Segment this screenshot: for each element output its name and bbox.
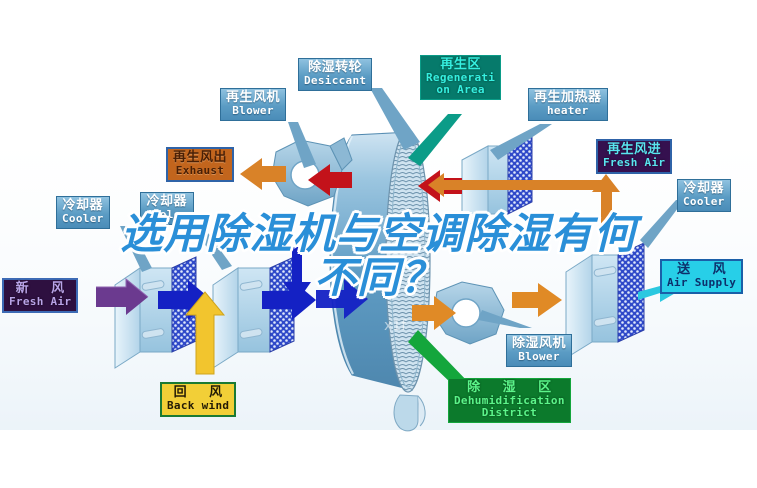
label-dehumidification-district[interactable]: 除湿区 Dehumidification District	[448, 378, 571, 423]
label-cooler-left-2-en: Cooler	[146, 209, 188, 221]
label-regen-blower-en: Blower	[226, 105, 280, 117]
label-cooler-left-cn: 冷却器	[62, 199, 104, 213]
label-regen-blower[interactable]: 再生风机 Blower	[220, 88, 286, 121]
label-regen-fresh-air-cn: 再生风进	[603, 143, 665, 157]
label-regen-blower-cn: 再生风机	[226, 91, 280, 105]
label-cooler-left[interactable]: 冷却器 Cooler	[56, 196, 110, 229]
label-dehumidification-district-cn: 除湿区	[454, 381, 565, 395]
label-dehumidification-district-en-2: District	[454, 407, 565, 419]
label-desiccant-cn: 除湿转轮	[304, 61, 366, 75]
label-fresh-air[interactable]: 新风 Fresh Air	[2, 278, 78, 313]
label-dehum-blower-cn: 除湿风机	[512, 337, 566, 351]
label-exhaust-en: Exhaust	[173, 165, 227, 177]
label-back-wind-en: Back wind	[167, 400, 229, 412]
label-air-supply[interactable]: 送风 Air Supply	[660, 259, 743, 294]
label-exhaust[interactable]: 再生风出 Exhaust	[166, 147, 234, 182]
label-exhaust-cn: 再生风出	[173, 151, 227, 165]
dehumidifier-schematic-svg: x1f	[0, 0, 757, 488]
label-dehum-blower-en: Blower	[512, 351, 566, 363]
condensate-drop	[394, 395, 418, 431]
label-regeneration-area-cn: 再生区	[426, 58, 495, 72]
label-regeneration-area[interactable]: 再生区 Regenerati on Area	[420, 55, 501, 100]
label-back-wind[interactable]: 回风 Back wind	[160, 382, 236, 417]
label-cooler-left-2-cn: 冷却器	[146, 195, 188, 209]
label-back-wind-cn: 回风	[167, 386, 229, 400]
label-regeneration-area-en-2: on Area	[426, 84, 495, 96]
label-air-supply-en: Air Supply	[667, 277, 736, 289]
label-fresh-air-en: Fresh Air	[9, 296, 71, 308]
rotor-watermark: x1f	[384, 318, 407, 334]
label-dehum-blower[interactable]: 除湿风机 Blower	[506, 334, 572, 367]
label-air-supply-cn: 送风	[667, 263, 736, 277]
label-cooler-right-en: Cooler	[683, 196, 725, 208]
label-cooler-right[interactable]: 冷却器 Cooler	[677, 179, 731, 212]
label-regen-fresh-air[interactable]: 再生风进 Fresh Air	[596, 139, 672, 174]
label-regen-fresh-air-en: Fresh Air	[603, 157, 665, 169]
label-desiccant-en: Desiccant	[304, 75, 366, 87]
label-regen-heater[interactable]: 再生加热器 heater	[528, 88, 608, 121]
label-cooler-left-2[interactable]: 冷却器 Cooler	[140, 192, 194, 225]
diagram-canvas: x1f	[0, 0, 757, 488]
label-cooler-left-en: Cooler	[62, 213, 104, 225]
label-fresh-air-cn: 新风	[9, 282, 71, 296]
label-regen-heater-cn: 再生加热器	[534, 91, 602, 105]
label-desiccant[interactable]: 除湿转轮 Desiccant	[298, 58, 372, 91]
label-cooler-right-cn: 冷却器	[683, 182, 725, 196]
label-regen-heater-en: heater	[534, 105, 602, 117]
